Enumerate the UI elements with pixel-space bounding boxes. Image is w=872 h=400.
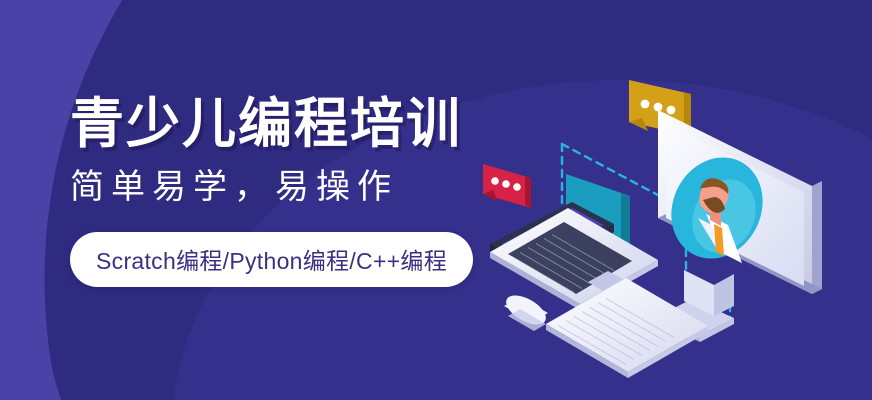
banner-copy: 青少儿编程培训 简单易学，易操作 Scratch编程/Python编程/C++编… <box>70 96 490 287</box>
banner-subtitle: 简单易学，易操作 <box>70 169 490 206</box>
course-list-pill[interactable]: Scratch编程/Python编程/C++编程 <box>70 232 473 287</box>
illustration <box>462 48 872 388</box>
speech-bubble-red-icon <box>483 164 531 208</box>
banner-title: 青少儿编程培训 <box>70 96 490 153</box>
desktop-monitor-icon <box>655 110 822 342</box>
promo-banner: 青少儿编程培训 简单易学，易操作 Scratch编程/Python编程/C++编… <box>0 0 872 400</box>
mouse-icon <box>501 289 550 331</box>
